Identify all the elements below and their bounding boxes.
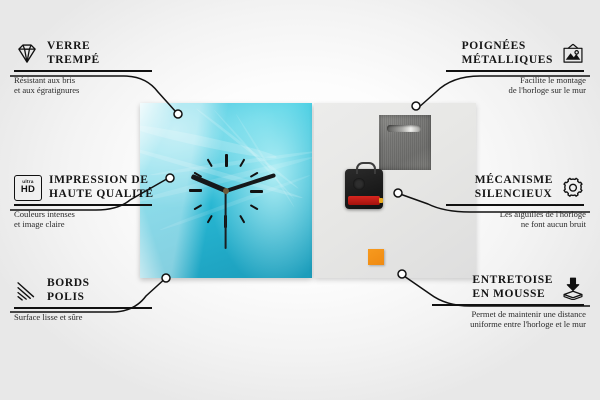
feature-title-line2: HAUTE QUALITÉ [49,188,154,202]
diagonal-lines-icon [14,279,40,303]
diamond-icon [14,42,40,66]
clock-face [140,103,312,278]
infographic-root: VERRE TREMPÉ Résistant aux bris et aux é… [0,0,600,400]
feature-verre-trempe: VERRE TREMPÉ Résistant aux bris et aux é… [14,40,154,96]
feature-rule [432,304,584,306]
hanging-frame-icon [560,42,586,66]
ultra-hd-icon-bottom-label: HD [21,185,35,195]
hands-pivot [223,188,229,194]
hanger-slot [387,125,421,132]
gear-icon [560,176,586,200]
feature-poignees-metalliques: POIGNÉES MÉTALLIQUES Facilite le montage… [446,40,586,96]
feature-title-line1: VERRE [47,40,100,54]
feature-rule [14,70,152,72]
ultra-hd-icon: ultra HD [14,175,42,201]
feature-bords-polis: BORDS POLIS Surface lisse et sûre [14,277,154,322]
feature-title-line2: TREMPÉ [47,54,100,68]
foam-spacer [368,249,384,265]
feature-rule [446,70,584,72]
metal-hanger-plate [379,115,431,170]
feature-title-line2: MÉTALLIQUES [462,54,553,68]
product-image-group [140,103,476,278]
feature-desc-line1: Résistant aux bris [14,75,154,86]
clock-mechanism [345,169,383,209]
mechanism-shaft [353,178,365,190]
feature-desc-line1: Les aiguilles de l'horloge [446,209,586,220]
feature-rule [446,204,584,206]
feature-title-line1: MÉCANISME [475,174,553,188]
feature-desc-line2: uniforme entre l'horloge et le mur [432,319,586,330]
feature-desc-line1: Permet de maintenir une distance [432,309,586,320]
feature-title-line2: POLIS [47,291,90,305]
feature-title-line1: POIGNÉES [462,40,553,54]
feature-desc-line1: Facilite le montage [446,75,586,86]
feature-desc-line2: et image claire [14,219,154,230]
battery [348,196,380,205]
feature-rule [14,204,152,206]
feature-title-line2: SILENCIEUX [475,188,553,202]
feature-desc-line2: de l'horloge sur le mur [446,85,586,96]
mechanism-hanging-loop [356,162,376,174]
arrow-layers-icon [560,276,586,300]
second-hand [225,191,227,249]
feature-mecanisme-silencieux: MÉCANISME SILENCIEUX Les aiguilles de l'… [446,174,586,230]
feature-title-line2: EN MOUSSE [472,288,553,302]
clock-front-panel [140,103,312,278]
feature-desc-line2: et aux égratignures [14,85,154,96]
feature-desc-line1: Couleurs intenses [14,209,154,220]
feature-desc-line1: Surface lisse et sûre [14,312,154,323]
feature-title-line1: IMPRESSION DE [49,174,154,188]
feature-title-line1: BORDS [47,277,90,291]
feature-title-line1: ENTRETOISE [472,274,553,288]
feature-entretoise-en-mousse: ENTRETOISE EN MOUSSE Permet de maintenir… [432,274,586,330]
feature-rule [14,307,152,309]
feature-impression-haute-qualite: ultra HD IMPRESSION DE HAUTE QUALITÉ Cou… [14,174,154,230]
feature-desc-line2: ne font aucun bruit [446,219,586,230]
